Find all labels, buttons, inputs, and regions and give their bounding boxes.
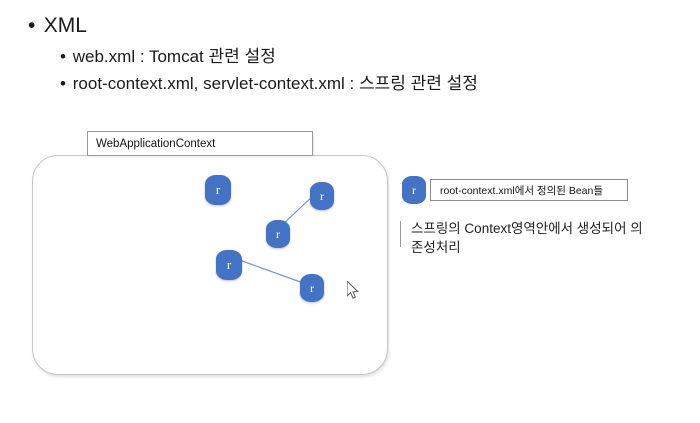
bean-node-4[interactable]: r (216, 250, 242, 280)
bullet-level2-webxml: •web.xml : Tomcat 관련 설정 (60, 46, 276, 67)
bullet-level2-rootcontext: •root-context.xml, servlet-context.xml :… (60, 73, 478, 94)
web-application-context-label-box: WebApplicationContext (87, 131, 313, 156)
legend-bean-icon: r (402, 176, 426, 204)
mouse-pointer-icon (347, 281, 361, 301)
legend-description-text: 스프링의 Context영역안에서 생성되어 의존성처리 (411, 219, 643, 257)
legend-caption-label: root-context.xml에서 정의된 Bean들 (440, 183, 603, 198)
bean-node-label: r (216, 182, 220, 198)
bullet-marker-icon: • (60, 46, 73, 67)
bean-node-3[interactable]: r (266, 220, 290, 248)
bean-node-label: r (320, 189, 324, 204)
bean-node-label: r (310, 281, 314, 296)
bullet-marker-icon: • (28, 14, 44, 38)
bean-node-1[interactable]: r (205, 175, 231, 205)
bean-node-5[interactable]: r (300, 274, 324, 302)
legend-caption-box: root-context.xml에서 정의된 Bean들 (430, 179, 628, 201)
legend-bean-label: r (412, 183, 416, 198)
bullet-level1-xml: •XML (28, 14, 87, 38)
legend-row: r root-context.xml에서 정의된 Bean들 (402, 176, 628, 204)
description-tick-divider (400, 221, 401, 247)
bean-node-label: r (227, 257, 231, 273)
bullet-level1-label: XML (44, 14, 87, 37)
bullet-level2-label: root-context.xml, servlet-context.xml : … (73, 74, 478, 93)
bullet-marker-icon: • (60, 73, 73, 94)
bullet-level2-label: web.xml : Tomcat 관련 설정 (73, 47, 276, 66)
bean-node-2[interactable]: r (310, 182, 334, 210)
bean-node-label: r (276, 227, 280, 242)
web-application-context-label: WebApplicationContext (96, 138, 215, 150)
legend-description-block: 스프링의 Context영역안에서 생성되어 의존성처리 (400, 219, 650, 257)
